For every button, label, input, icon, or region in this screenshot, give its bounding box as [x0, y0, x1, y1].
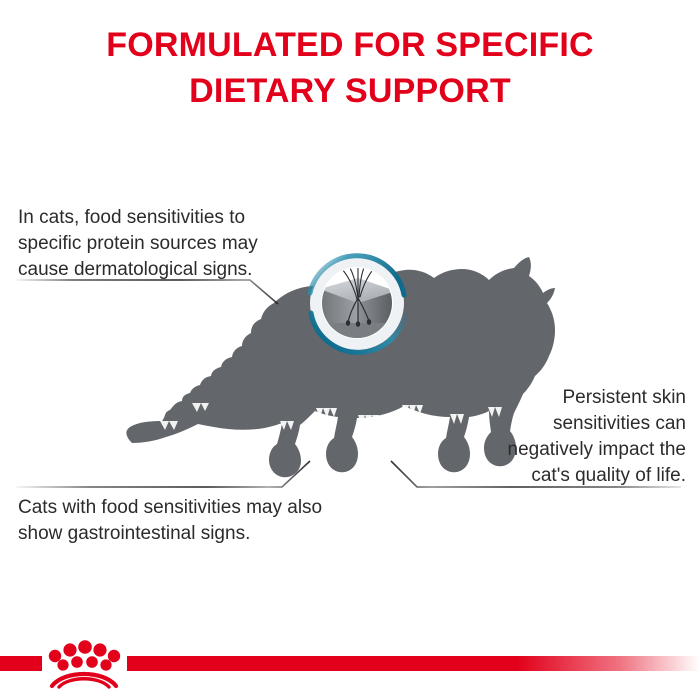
- callout-bottom-left-line-2: show gastrointestinal signs.: [18, 521, 358, 547]
- brand-band: [0, 628, 700, 700]
- skin-cross-section-badge: [296, 243, 418, 365]
- brand-bar-left: [0, 656, 42, 671]
- callout-right-line-4: cat's quality of life.: [426, 463, 686, 489]
- leader-line-bottom-left: [10, 455, 320, 500]
- callout-top-left: In cats, food sensitivities to specific …: [18, 205, 308, 283]
- page-title-line-2: DIETARY SUPPORT: [0, 68, 700, 114]
- callout-right-line-1: Persistent skin: [426, 385, 686, 411]
- page-title: FORMULATED FOR SPECIFIC DIETARY SUPPORT: [0, 22, 700, 114]
- callout-top-left-line-3: cause dermatological signs.: [18, 257, 308, 283]
- crown-arc-inner: [59, 679, 109, 687]
- callout-top-left-line-2: specific protein sources may: [18, 231, 308, 257]
- callout-right-line-2: sensitivities can: [426, 411, 686, 437]
- callout-right-line-3: negatively impact the: [426, 437, 686, 463]
- crown-bottom-dots: [57, 656, 111, 670]
- royal-canin-crown-logo: [44, 632, 124, 694]
- callout-top-left-line-1: In cats, food sensitivities to: [18, 205, 308, 231]
- brand-bar-right: [127, 656, 700, 671]
- page-title-line-1: FORMULATED FOR SPECIFIC: [0, 22, 700, 68]
- callout-bottom-left-line-1: Cats with food sensitivities may also: [18, 495, 358, 521]
- callout-right: Persistent skin sensitivities can negati…: [426, 385, 686, 489]
- crown-top-dots: [49, 640, 120, 662]
- callout-bottom-left: Cats with food sensitivities may also sh…: [18, 495, 358, 547]
- poster-canvas: FORMULATED FOR SPECIFIC DIETARY SUPPORT: [0, 0, 700, 700]
